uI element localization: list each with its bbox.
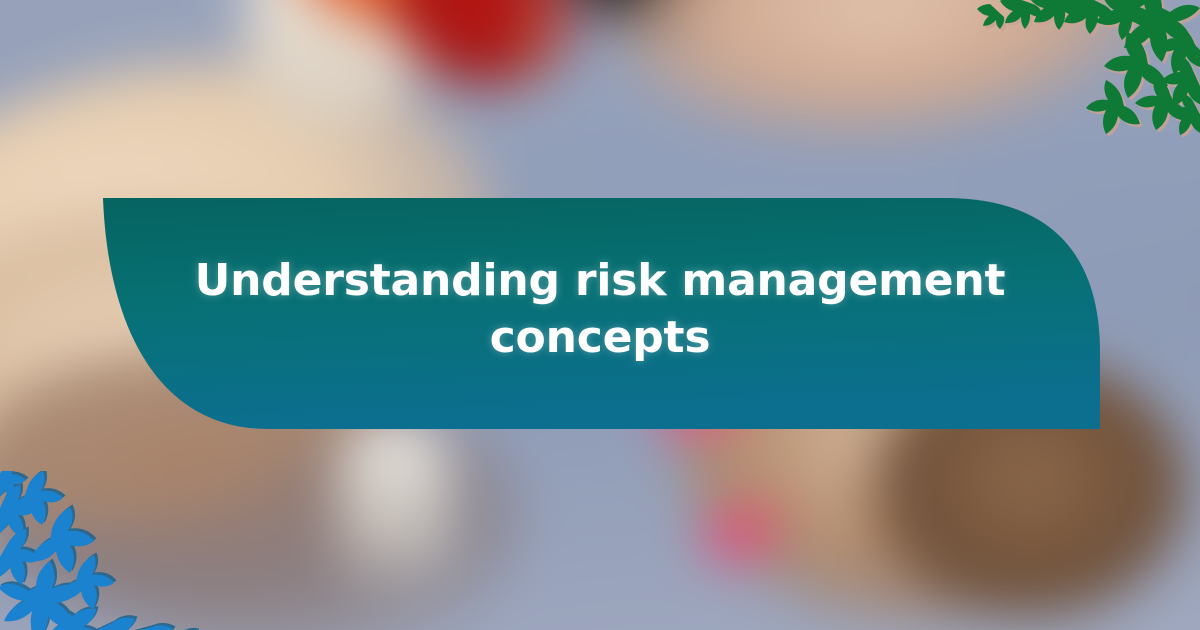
page-title: Understanding risk management concepts [150,252,1050,366]
title-banner: Understanding risk management concepts [0,0,1200,630]
social-card: Understanding risk management concepts [0,0,1200,630]
